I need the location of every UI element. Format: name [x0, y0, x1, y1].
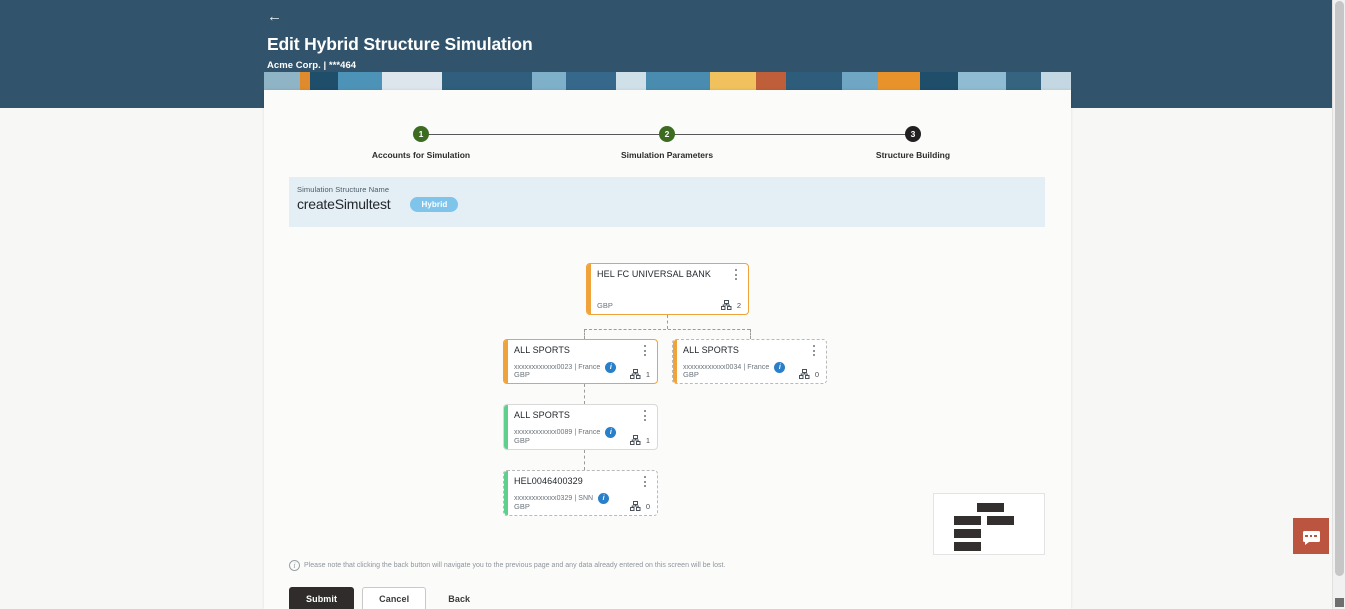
- node-child-count: 1: [630, 435, 650, 445]
- tree-node-child-4[interactable]: HEL0046400329 xxxxxxxxxxxx0329 | SNN i G…: [503, 470, 658, 516]
- back-arrow-icon[interactable]: ←: [267, 10, 283, 26]
- node-kebab-menu-icon[interactable]: [640, 410, 650, 423]
- page-root: ← Edit Hybrid Structure Simulation Acme …: [0, 0, 1345, 609]
- back-button-notice: i Please note that clicking the back but…: [289, 560, 725, 571]
- scrollbar-thumb[interactable]: [1335, 1, 1344, 576]
- decorative-banner-image: [264, 72, 1071, 90]
- node-child-count: 2: [721, 300, 741, 310]
- node-count-value: 2: [737, 301, 741, 310]
- node-child-count: 1: [630, 369, 650, 379]
- connector-child3-to-child4: [584, 450, 585, 470]
- chat-support-button[interactable]: [1293, 518, 1329, 554]
- node-currency: GBP: [514, 436, 530, 445]
- hierarchy-icon: [630, 435, 641, 445]
- page-title: Edit Hybrid Structure Simulation: [267, 34, 1067, 55]
- node-kebab-menu-icon[interactable]: [809, 345, 819, 358]
- node-child-count: 0: [630, 501, 650, 511]
- step-3-number: 3: [905, 126, 921, 142]
- node-child-count: 0: [799, 369, 819, 379]
- cancel-button[interactable]: Cancel: [362, 587, 426, 609]
- node-title: ALL SPORTS: [514, 410, 650, 420]
- tree-node-child-2[interactable]: ALL SPORTS xxxxxxxxxxxx0034 | France i G…: [672, 339, 827, 384]
- page-scrollbar[interactable]: [1332, 0, 1345, 609]
- node-currency: GBP: [597, 301, 613, 310]
- info-circle-icon: i: [289, 560, 300, 571]
- hierarchy-icon: [630, 501, 641, 511]
- step-2-number: 2: [659, 126, 675, 142]
- hierarchy-icon: [799, 369, 810, 379]
- step-1-number: 1: [413, 126, 429, 142]
- form-actions: Submit Cancel Back: [289, 587, 484, 609]
- main-content-card: 1 Accounts for Simulation 2 Simulation P…: [264, 90, 1071, 609]
- node-title: HEL FC UNIVERSAL BANK: [597, 269, 741, 279]
- chat-bubble-icon: [1303, 531, 1320, 542]
- tree-minimap[interactable]: [933, 493, 1045, 555]
- node-kebab-menu-icon[interactable]: [640, 345, 650, 358]
- node-currency: GBP: [514, 502, 530, 511]
- node-title: ALL SPORTS: [514, 345, 650, 355]
- back-button[interactable]: Back: [434, 587, 484, 609]
- node-kebab-menu-icon[interactable]: [640, 476, 650, 489]
- node-count-value: 0: [815, 370, 819, 379]
- node-title: ALL SPORTS: [683, 345, 819, 355]
- tree-node-child-3[interactable]: ALL SPORTS xxxxxxxxxxxx0089 | France i G…: [503, 404, 658, 450]
- connector-child1-down: [584, 329, 585, 339]
- node-count-value: 1: [646, 370, 650, 379]
- notice-text: Please note that clicking the back butto…: [304, 562, 725, 569]
- connector-child1-to-child3: [584, 384, 585, 404]
- node-title: HEL0046400329: [514, 476, 650, 486]
- node-currency: GBP: [514, 370, 530, 379]
- node-count-value: 0: [646, 502, 650, 511]
- connector-level1-horizontal: [584, 329, 750, 330]
- page-subtitle: Acme Corp. | ***464: [267, 60, 1067, 71]
- submit-button[interactable]: Submit: [289, 587, 354, 609]
- connector-root-down: [667, 315, 668, 329]
- hierarchy-icon: [630, 369, 641, 379]
- tree-node-root[interactable]: HEL FC UNIVERSAL BANK GBP 2: [586, 263, 749, 315]
- connector-child2-down: [750, 329, 751, 339]
- hierarchy-icon: [721, 300, 732, 310]
- tree-node-child-1[interactable]: ALL SPORTS xxxxxxxxxxxx0023 | France i G…: [503, 339, 658, 384]
- node-count-value: 1: [646, 436, 650, 445]
- node-kebab-menu-icon[interactable]: [731, 269, 741, 282]
- scrollbar-down-arrow-icon[interactable]: [1335, 598, 1344, 607]
- node-currency: GBP: [683, 370, 699, 379]
